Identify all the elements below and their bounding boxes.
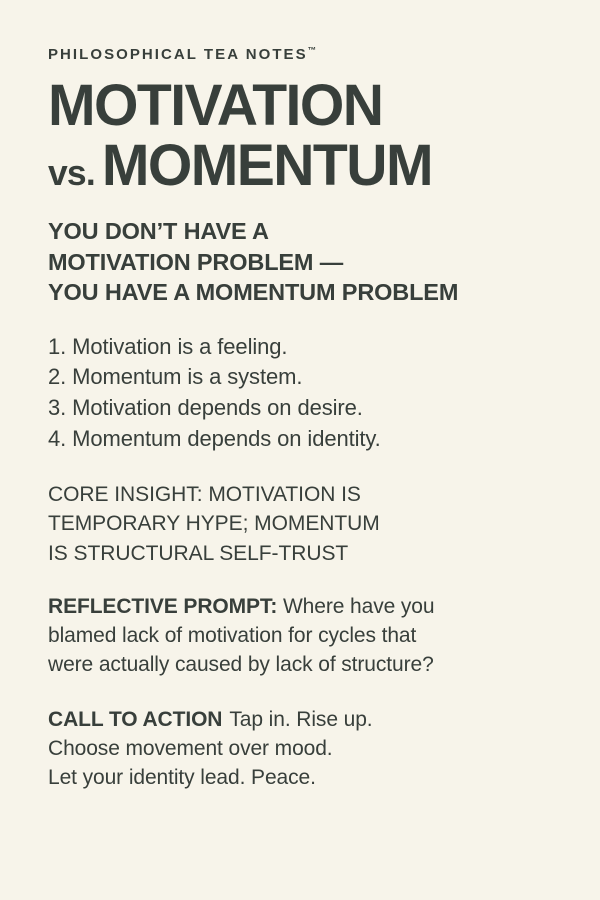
call-to-action-line-3: Let your identity lead. Peace. [48,764,578,793]
reflective-prompt-text-1: Where have you [277,595,434,618]
trademark-symbol: ™ [308,45,317,55]
reflective-prompt-line-3: were actually caused by lack of structur… [48,651,578,680]
list-item: 4. Momentum depends on identity. [48,424,578,455]
reflective-prompt-line-2: blamed lack of motivation for cycles tha… [48,622,578,651]
call-to-action-text-1: Tap in. Rise up. [229,708,372,731]
title-line-momentum: vs.MOMENTUM [48,138,570,194]
core-insight-line-2: TEMPORARY HYPE; MOMENTUM [48,509,578,538]
page-title: MOTIVATION vs.MOMENTUM [48,78,578,195]
subheadline: YOU DON’T HAVE A MOTIVATION PROBLEM — YO… [48,216,578,308]
call-to-action-block: CALL TO ACTIONTap in. Rise up. Choose mo… [48,706,578,793]
poster-canvas: PHILOSOPHICAL TEA NOTES™ MOTIVATION vs.M… [0,0,600,900]
call-to-action-label: CALL TO ACTION [48,708,222,731]
brand-eyebrow: PHILOSOPHICAL TEA NOTES™ [48,46,578,64]
call-to-action-line-2: Choose movement over mood. [48,735,578,764]
subheadline-line-3: YOU HAVE A MOMENTUM PROBLEM [48,277,578,308]
reflective-prompt-line-1: REFLECTIVE PROMPT: Where have you [48,593,578,622]
numbered-list: 1. Motivation is a feeling. 2. Momentum … [48,332,578,455]
list-item: 3. Motivation depends on desire. [48,393,578,424]
subheadline-line-2: MOTIVATION PROBLEM — [48,247,578,278]
subheadline-line-1: YOU DON’T HAVE A [48,216,578,247]
brand-eyebrow-text: PHILOSOPHICAL TEA NOTES [48,46,308,63]
title-line-motivation: MOTIVATION [48,78,570,134]
list-item: 2. Momentum is a system. [48,362,578,393]
core-insight-line-1: CORE INSIGHT: MOTIVATION IS [48,480,578,509]
title-vs-label: vs. [48,152,102,193]
list-item: 1. Motivation is a feeling. [48,332,578,363]
core-insight-block: CORE INSIGHT: MOTIVATION IS TEMPORARY HY… [48,480,578,568]
call-to-action-line-1: CALL TO ACTIONTap in. Rise up. [48,706,578,735]
core-insight-line-3: IS STRUCTURAL SELF-TRUST [48,539,578,568]
reflective-prompt-block: REFLECTIVE PROMPT: Where have you blamed… [48,593,578,680]
title-momentum-word: MOMENTUM [102,133,432,198]
reflective-prompt-label: REFLECTIVE PROMPT: [48,595,277,618]
